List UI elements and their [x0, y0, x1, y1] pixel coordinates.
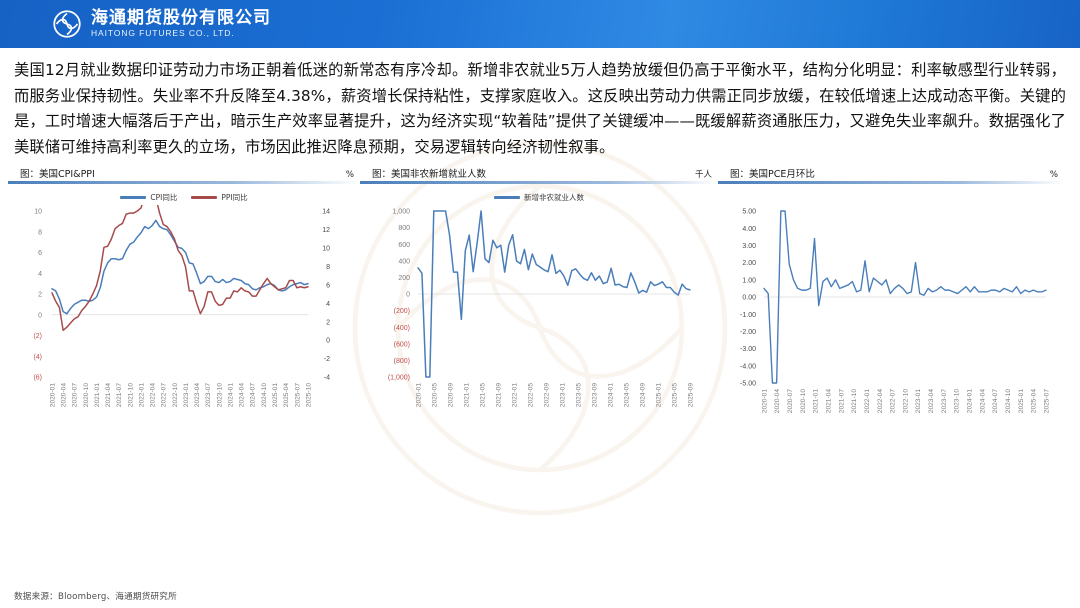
x-axis-tick: 2020-04: [774, 388, 781, 413]
x-axis-tick: 2021-01: [463, 382, 470, 407]
x-axis-tick: 2024-10: [261, 382, 268, 407]
y-axis-tick: 600: [398, 241, 410, 248]
series-line-ppi: [52, 205, 308, 330]
x-axis-tick: 2021-09: [495, 382, 502, 407]
chart-nonfarm-divider: [360, 181, 718, 184]
y-axis-tick: (600): [394, 341, 410, 348]
x-axis-tick: 2023-10: [954, 388, 961, 413]
x-axis-tick: 2022-01: [511, 382, 518, 407]
legend-swatch-cpi: [120, 196, 146, 199]
y-axis-tick: (800): [394, 358, 410, 365]
legend-label-nonfarm: 新增非农就业人数: [524, 192, 584, 203]
x-axis-tick: 2024-07: [992, 388, 999, 413]
x-axis-tick: 2020-07: [787, 388, 794, 413]
x-axis-tick: 2023-09: [591, 382, 598, 407]
x-axis-tick: 2025-07: [1043, 388, 1050, 413]
company-logo: 海通期货股份有限公司 HAITONG FUTURES CO., LTD.: [52, 9, 271, 39]
x-axis-tick: 2021-05: [479, 382, 486, 407]
y-axis-tick: -3.00: [740, 346, 756, 353]
chart-cpi-ppi-unit: %: [346, 170, 354, 180]
y-axis-tick: 0: [38, 312, 42, 319]
y-axis-tick: 400: [398, 258, 410, 265]
y-axis-tick: 4.00: [742, 225, 756, 232]
y-axis-tick: 6: [38, 250, 42, 257]
x-axis-tick: 2022-10: [902, 388, 909, 413]
x-axis-tick: 2025-01: [1018, 388, 1025, 413]
x-axis-tick: 2020-07: [72, 382, 79, 407]
y-axis-tick: 0.00: [742, 294, 756, 301]
x-axis-tick: 2024-04: [239, 382, 246, 407]
y-axis-tick: 1.00: [742, 277, 756, 284]
company-name-en: HAITONG FUTURES CO., LTD.: [91, 28, 271, 39]
y-axis-tick: 800: [398, 225, 410, 232]
x-axis-tick: 2022-04: [877, 388, 884, 413]
x-axis-tick: 2025-09: [687, 382, 694, 407]
chart-pce-divider: [718, 181, 1064, 184]
y-axis-tick: (4): [33, 353, 42, 360]
y-axis-tick: (2): [33, 333, 42, 340]
company-name-cn: 海通期货股份有限公司: [91, 9, 271, 27]
y-axis-tick: -4: [324, 374, 330, 381]
chart-pce-header: 图：美国PCE月环比 %: [718, 166, 1064, 181]
x-axis-tick: 2020-05: [431, 382, 438, 407]
y-axis-tick: (200): [394, 308, 410, 315]
legend-item-ppi: PPI同比: [191, 192, 247, 203]
x-axis-tick: 2020-01: [415, 382, 422, 407]
x-axis-tick: 2021-10: [851, 388, 858, 413]
x-axis-tick: 2025-04: [1031, 388, 1038, 413]
x-axis-tick: 2025-01: [272, 382, 279, 407]
x-axis-tick: 2022-07: [161, 382, 168, 407]
chart-cpi-ppi-header: 图：美国CPI&PPI %: [8, 166, 360, 181]
y-axis-tick: 6: [326, 282, 330, 289]
y-axis-tick: 2: [326, 319, 330, 326]
chart-pce-plot: 5.004.003.002.001.000.00-1.00-2.00-3.00-…: [718, 205, 1064, 440]
market-commentary: 美国12月就业数据印证劳动力市场正朝着低迷的新常态有序冷却。新增非农就业5万人趋…: [14, 58, 1066, 160]
x-axis-tick: 2024-09: [639, 382, 646, 407]
y-axis-tick: 5.00: [742, 208, 756, 215]
chart-pce-legend: [718, 192, 1064, 204]
x-axis-tick: 2025-01: [655, 382, 662, 407]
chart-nonfarm-unit: 千人: [695, 168, 712, 180]
y-axis-tick: (400): [394, 324, 410, 331]
chart-cpi-ppi-legend: CPI同比 PPI同比: [8, 192, 360, 204]
x-axis-tick: 2021-01: [94, 382, 101, 407]
legend-label-cpi: CPI同比: [150, 192, 177, 203]
x-axis-tick: 2021-04: [825, 388, 832, 413]
x-axis-tick: 2020-01: [49, 382, 56, 407]
chart-nonfarm-legend: 新增非农就业人数: [360, 192, 718, 204]
legend-item-nonfarm: 新增非农就业人数: [494, 192, 584, 203]
x-axis-tick: 2023-01: [559, 382, 566, 407]
x-axis-tick: 2024-01: [966, 388, 973, 413]
legend-swatch-ppi: [191, 196, 217, 199]
x-axis-tick: 2024-05: [623, 382, 630, 407]
y-axis-tick: 10: [322, 245, 330, 252]
x-axis-tick: 2021-10: [127, 382, 134, 407]
x-axis-tick: 2021-04: [105, 382, 112, 407]
chart-pce-unit: %: [1050, 170, 1058, 180]
y-axis-tick: 0: [326, 337, 330, 344]
legend-item-cpi: CPI同比: [120, 192, 177, 203]
y-axis-tick: -4.00: [740, 363, 756, 370]
x-axis-tick: 2023-01: [915, 388, 922, 413]
chart-nonfarm-payrolls: 图：美国非农新增就业人数 千人 新增非农就业人数 1,0008006004002…: [360, 166, 718, 440]
x-axis-tick: 2025-05: [671, 382, 678, 407]
x-axis-tick: 2023-04: [928, 388, 935, 413]
legend-swatch-nonfarm: [494, 196, 520, 199]
x-axis-tick: 2022-01: [864, 388, 871, 413]
x-axis-tick: 2020-09: [447, 382, 454, 407]
x-axis-tick: 2024-01: [227, 382, 234, 407]
chart-cpi-ppi-divider: [8, 181, 360, 184]
page-header: 海通期货股份有限公司 HAITONG FUTURES CO., LTD.: [0, 0, 1080, 48]
chart-nonfarm-plot: 1,0008006004002000(200)(400)(600)(800)(1…: [360, 205, 718, 440]
chart-pce-mom: 图：美国PCE月环比 % 5.004.003.002.001.000.00-1.…: [718, 166, 1064, 440]
y-axis-tick: 12: [322, 227, 330, 234]
x-axis-tick: 2020-01: [761, 388, 768, 413]
source-note: 数据来源：Bloomberg、海通期货研究所: [14, 590, 177, 602]
y-axis-tick: -2.00: [740, 329, 756, 336]
chart-cpi-ppi-plot: 1086420(2)(4)(6)14121086420-2-42020-0120…: [8, 205, 360, 440]
x-axis-tick: 2022-09: [543, 382, 550, 407]
y-axis-tick: 200: [398, 275, 410, 282]
y-axis-tick: 0: [406, 291, 410, 298]
x-axis-tick: 2021-07: [116, 382, 123, 407]
y-axis-tick: 10: [34, 208, 42, 215]
x-axis-tick: 2023-10: [216, 382, 223, 407]
y-axis-tick: 4: [38, 270, 42, 277]
y-axis-tick: 2.00: [742, 260, 756, 267]
chart-cpi-ppi: 图：美国CPI&PPI % CPI同比 PPI同比 1086420(2)(4)(…: [8, 166, 360, 440]
y-axis-tick: 8: [38, 229, 42, 236]
x-axis-tick: 2023-01: [183, 382, 190, 407]
y-axis-tick: (6): [33, 374, 42, 381]
x-axis-tick: 2021-07: [838, 388, 845, 413]
x-axis-tick: 2025-04: [283, 382, 290, 407]
y-axis-tick: 2: [38, 291, 42, 298]
y-axis-tick: 8: [326, 263, 330, 270]
y-axis-tick: 1,000: [392, 208, 410, 215]
x-axis-tick: 2022-05: [527, 382, 534, 407]
x-axis-tick: 2024-10: [1005, 388, 1012, 413]
y-axis-tick: 3.00: [742, 243, 756, 250]
chart-nonfarm-header: 图：美国非农新增就业人数 千人: [360, 166, 718, 181]
x-axis-tick: 2023-07: [205, 382, 212, 407]
y-axis-tick: 4: [326, 300, 330, 307]
x-axis-tick: 2024-07: [250, 382, 257, 407]
y-axis-tick: -2: [324, 356, 330, 363]
chart-pce-title: 图：美国PCE月环比: [730, 166, 815, 180]
x-axis-tick: 2020-04: [61, 382, 68, 407]
legend-label-ppi: PPI同比: [221, 192, 247, 203]
x-axis-tick: 2023-05: [575, 382, 582, 407]
x-axis-tick: 2022-01: [138, 382, 145, 407]
charts-row: 图：美国CPI&PPI % CPI同比 PPI同比 1086420(2)(4)(…: [0, 166, 1080, 440]
x-axis-tick: 2024-04: [979, 388, 986, 413]
y-axis-tick: 14: [322, 208, 330, 215]
haitong-emblem-icon: [52, 9, 82, 39]
x-axis-tick: 2025-10: [305, 382, 312, 407]
x-axis-tick: 2021-01: [813, 388, 820, 413]
y-axis-tick: -1.00: [740, 311, 756, 318]
x-axis-tick: 2023-07: [941, 388, 948, 413]
x-axis-tick: 2023-04: [194, 382, 201, 407]
y-axis-tick: -5.00: [740, 380, 756, 387]
x-axis-tick: 2024-01: [607, 382, 614, 407]
x-axis-tick: 2022-10: [172, 382, 179, 407]
x-axis-tick: 2025-07: [294, 382, 301, 407]
x-axis-tick: 2020-10: [800, 388, 807, 413]
chart-nonfarm-title: 图：美国非农新增就业人数: [372, 166, 486, 180]
x-axis-tick: 2020-10: [83, 382, 90, 407]
chart-cpi-ppi-title: 图：美国CPI&PPI: [20, 166, 95, 180]
y-axis-tick: (1,000): [388, 374, 410, 381]
x-axis-tick: 2022-04: [150, 382, 157, 407]
x-axis-tick: 2022-07: [890, 388, 897, 413]
